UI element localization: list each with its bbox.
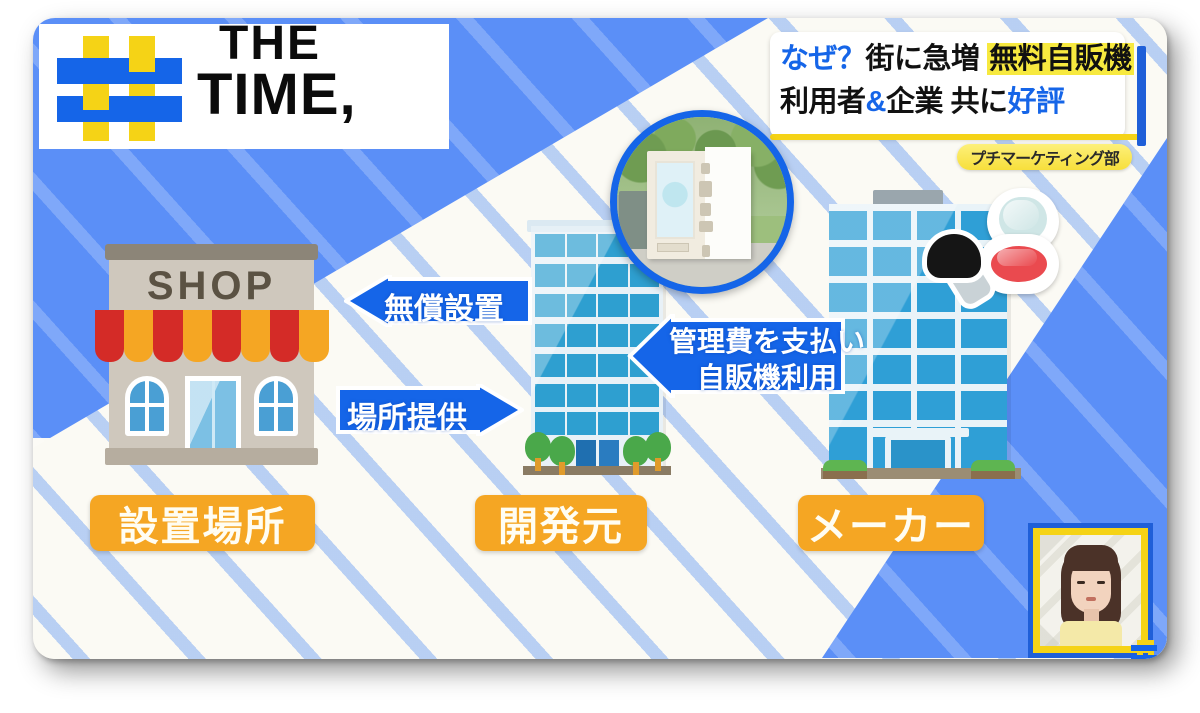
- screenshot-root: THE TIME, なぜ？街に急増 無料自販機 利用者&企業 共に好評 プチマー…: [0, 0, 1200, 713]
- category-label-install-site: 設置場所: [90, 495, 315, 551]
- arrow-pay-fee-label-line2: 自販機利用: [697, 356, 837, 396]
- presenter-camera-inset: [1028, 523, 1153, 658]
- corner-woven-logo-icon: [1131, 640, 1157, 659]
- tree-icon-4: [645, 432, 671, 470]
- presenter-photo: [1040, 535, 1141, 646]
- shop-illustration: SHOP: [89, 236, 334, 476]
- category-label-developer-text: 開発元: [498, 494, 624, 552]
- program-logo: THE TIME,: [39, 24, 449, 149]
- headline-seg-riyousha: 利用者: [780, 86, 866, 118]
- arrow-pay-fee: 管理費を支払い 自販機利用: [627, 314, 847, 398]
- maker-entrance: [885, 434, 951, 470]
- broadcast-graphic-panel: THE TIME, なぜ？街に急増 無料自販機 利用者&企業 共に好評 プチマー…: [33, 18, 1167, 659]
- arrow-pay-fee-label-line1: 管理費を支払い: [669, 320, 865, 360]
- photo-vending-machine-side: [705, 147, 751, 259]
- program-logo-text: THE TIME,: [197, 20, 447, 150]
- cosmetics-sticker: [921, 188, 1061, 308]
- tree-icon-2: [549, 436, 575, 474]
- headline-seg-kigyou: 企業 共に: [886, 86, 1008, 118]
- headline-seg-kouhyou: 好評: [1008, 86, 1065, 118]
- shop-window-right: [254, 376, 298, 436]
- headline-seg-muryou: 無料自販機: [987, 43, 1134, 75]
- category-label-maker: メーカー: [798, 495, 984, 551]
- makeup-brush-icon: [921, 232, 1007, 306]
- photo-recycle-bin-1: [619, 191, 649, 249]
- category-label-install-site-text: 設置場所: [119, 494, 287, 552]
- program-logo-line2: TIME,: [197, 67, 447, 124]
- tree-icon-1: [525, 432, 551, 470]
- arrow-free-install-label: 無償設置: [384, 284, 504, 328]
- headline-underline: [770, 134, 1142, 140]
- shop-window-left: [125, 376, 169, 436]
- headline-line-2: 利用者&企業 共に好評: [780, 81, 1117, 123]
- program-logo-line1: THE: [197, 20, 447, 67]
- segment-badge-label: プチマーケティング部: [970, 145, 1119, 169]
- headline-seg-machi: 街に急増: [866, 43, 980, 75]
- presenter-eye-right: [1097, 581, 1105, 584]
- vending-machine-photo-inset: [610, 110, 794, 294]
- photo-vending-machine-slot: [657, 243, 689, 252]
- category-label-maker-text: メーカー: [807, 494, 975, 552]
- shrub-icon-left: [823, 460, 867, 478]
- headline-seg-amp: &: [866, 86, 886, 118]
- headline-line-1: なぜ？街に急増 無料自販機: [780, 37, 1117, 81]
- shop-roof: [105, 244, 318, 260]
- woven-grid-logo-icon: [57, 36, 182, 141]
- presenter-eye-left: [1077, 581, 1085, 584]
- arrow-free-install: 無償設置: [344, 275, 534, 327]
- shop-door-split: [212, 381, 215, 449]
- arrow-provide-space: 場所提供: [329, 384, 524, 436]
- category-label-developer: 開発元: [475, 495, 647, 551]
- brush-bristles: [927, 234, 981, 278]
- headline-banner: なぜ？街に急増 無料自販機 利用者&企業 共に好評: [770, 32, 1125, 138]
- presenter-mouth: [1086, 597, 1096, 601]
- shrub-icon-right: [971, 460, 1015, 478]
- shop-sign-text: SHOP: [109, 262, 314, 310]
- headline-seg-naze: なぜ？: [780, 43, 866, 75]
- segment-badge: プチマーケティング部: [957, 144, 1132, 170]
- photo-screen-graphic: [659, 177, 691, 221]
- presenter-fringe: [1064, 545, 1118, 571]
- presenter-clothing: [1060, 621, 1122, 646]
- shop-awning: [95, 310, 328, 362]
- shop-base: [105, 448, 318, 465]
- headline-accent-bar: [1137, 46, 1146, 146]
- compact-mirror-glare: [1003, 200, 1039, 230]
- arrow-provide-space-label: 場所提供: [347, 393, 467, 437]
